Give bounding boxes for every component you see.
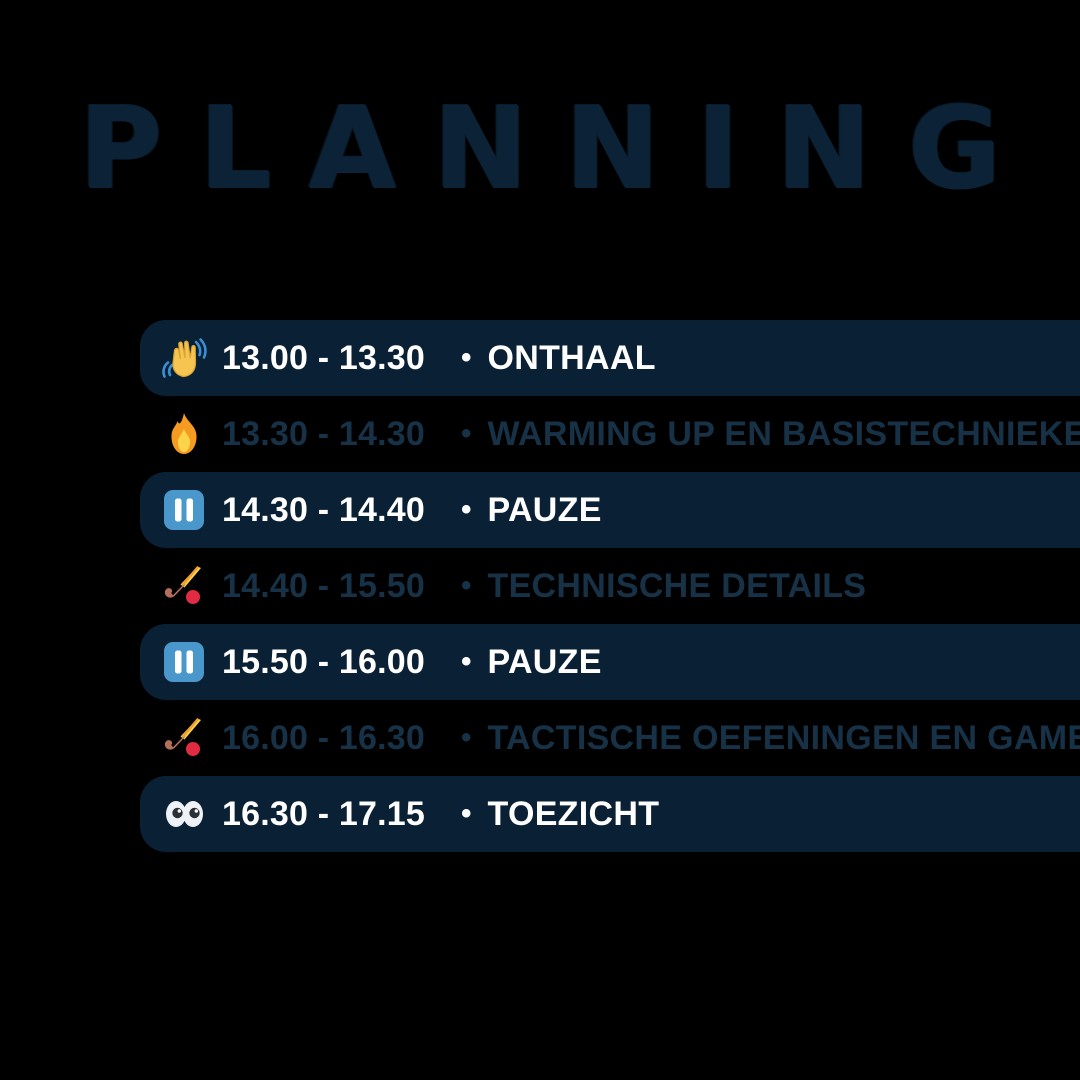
planning-poster: PLANNING 13.00 - 13.30•ONTHAAL13.30 - 14…	[0, 0, 1080, 1080]
eyes-emoji	[160, 790, 208, 838]
schedule-row[interactable]: 13.00 - 13.30•ONTHAAL	[140, 320, 1080, 396]
pause-button-emoji	[160, 486, 208, 534]
schedule-row-time: 16.30 - 17.15	[222, 795, 425, 834]
page-title: PLANNING	[42, 92, 1039, 206]
schedule-row[interactable]: 13.30 - 14.30•WARMING UP EN BASISTECHNIE…	[140, 396, 1080, 472]
schedule-row-time: 13.30 - 14.30	[222, 415, 425, 454]
page-title-wrap: PLANNING	[0, 92, 1080, 206]
schedule-row[interactable]: 15.50 - 16.00•PAUZE	[140, 624, 1080, 700]
waving-hand-emoji	[160, 334, 208, 382]
field-hockey-emoji	[160, 562, 208, 610]
bullet-separator: •	[461, 723, 472, 753]
schedule-row-time: 14.30 - 14.40	[222, 491, 425, 530]
fire-emoji	[160, 410, 208, 458]
schedule-row-time: 16.00 - 16.30	[222, 719, 425, 758]
bullet-separator: •	[461, 799, 472, 829]
schedule-row-label: TOEZICHT	[488, 795, 660, 834]
bullet-separator: •	[461, 343, 472, 373]
schedule-row-label: PAUZE	[488, 491, 602, 530]
schedule-row[interactable]: 14.40 - 15.50•TECHNISCHE DETAILS	[140, 548, 1080, 624]
schedule-row-time: 15.50 - 16.00	[222, 643, 425, 682]
schedule-row-label: TECHNISCHE DETAILS	[488, 567, 867, 606]
bullet-separator: •	[461, 571, 472, 601]
bullet-separator: •	[461, 419, 472, 449]
schedule-list: 13.00 - 13.30•ONTHAAL13.30 - 14.30•WARMI…	[0, 320, 1080, 852]
schedule-row[interactable]: 16.00 - 16.30•TACTISCHE OEFENINGEN EN GA…	[140, 700, 1080, 776]
schedule-row-label: WARMING UP EN BASISTECHNIEKEN	[488, 415, 1080, 454]
schedule-row-time: 13.00 - 13.30	[222, 339, 425, 378]
schedule-row-label: TACTISCHE OEFENINGEN EN GAMEPLAY	[488, 719, 1080, 758]
schedule-row-time: 14.40 - 15.50	[222, 567, 425, 606]
schedule-row-label: PAUZE	[488, 643, 602, 682]
bullet-separator: •	[461, 647, 472, 677]
schedule-row[interactable]: 14.30 - 14.40•PAUZE	[140, 472, 1080, 548]
schedule-row[interactable]: 16.30 - 17.15•TOEZICHT	[140, 776, 1080, 852]
field-hockey-emoji	[160, 714, 208, 762]
pause-button-emoji	[160, 638, 208, 686]
schedule-row-label: ONTHAAL	[488, 339, 656, 378]
bullet-separator: •	[461, 495, 472, 525]
